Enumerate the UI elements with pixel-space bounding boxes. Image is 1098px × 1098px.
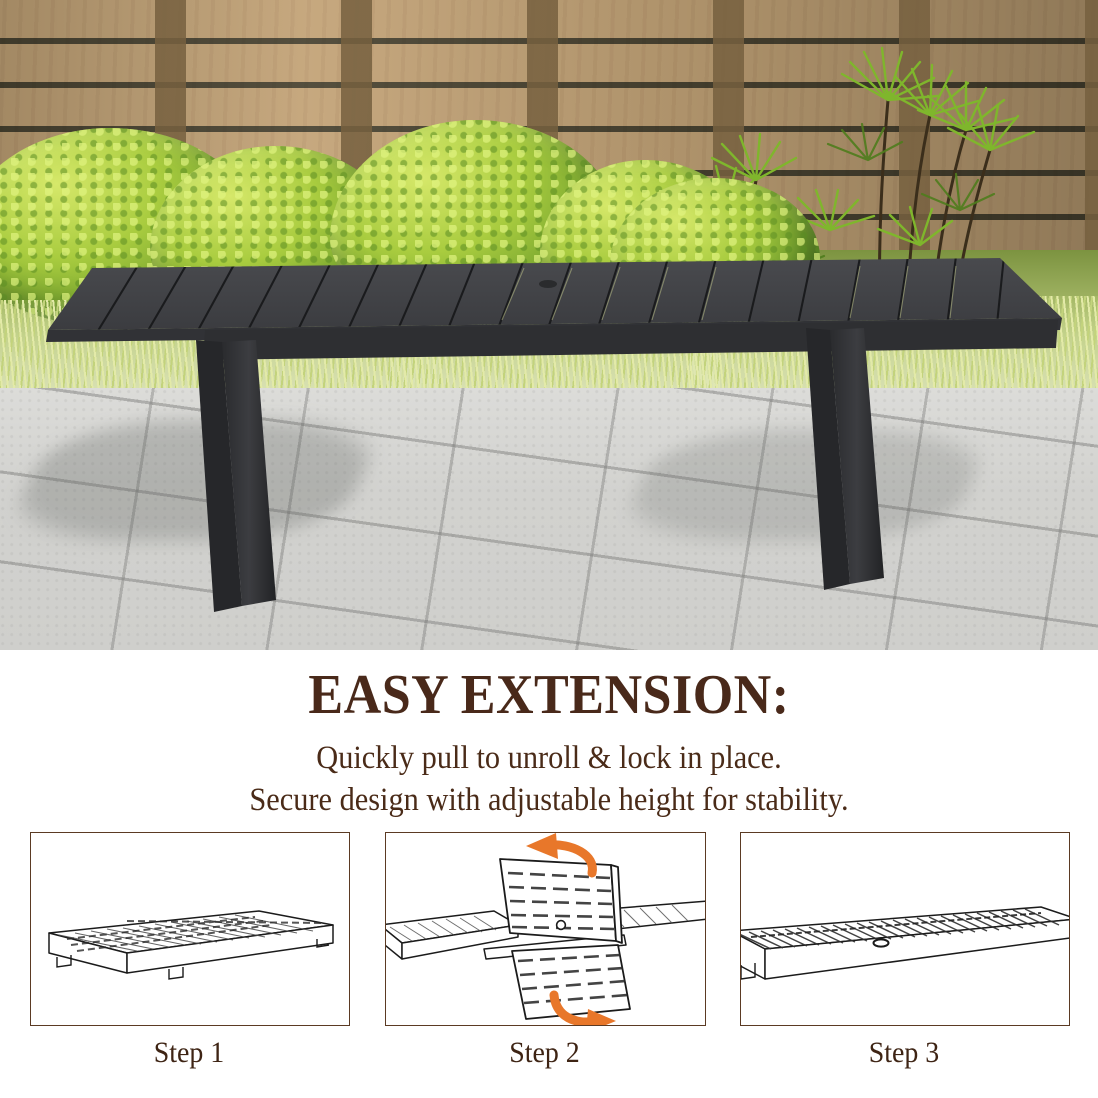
step-1-label: Step 1: [41, 1036, 337, 1070]
table-assembly: [0, 0, 1098, 650]
umbrella-hole-icon: [874, 939, 889, 946]
table-top-surface: [48, 258, 1062, 330]
step-2-panel: [385, 832, 706, 1026]
subtitle-line-2: Secure design with adjustable height for…: [44, 782, 1054, 819]
subtitle-line-1: Quickly pull to unroll & lock in place.: [44, 740, 1054, 777]
step-3-panel: [740, 832, 1070, 1026]
step-3-label: Step 3: [751, 1036, 1056, 1070]
umbrella-hole: [539, 280, 557, 288]
product-feature-page: EASY EXTENSION: Quickly pull to unroll &…: [0, 0, 1098, 1098]
step-2-illustration: [386, 833, 705, 1025]
page-headline: EASY EXTENSION:: [38, 667, 1059, 723]
step-1-illustration: [31, 833, 349, 1025]
step-2-label: Step 2: [396, 1036, 693, 1070]
info-section: EASY EXTENSION: Quickly pull to unroll &…: [0, 650, 1098, 1098]
lock-knob-icon: [557, 921, 566, 930]
step-3-illustration: [741, 833, 1069, 1025]
hero-product-photo: [0, 0, 1098, 650]
step-1-panel: [30, 832, 350, 1026]
